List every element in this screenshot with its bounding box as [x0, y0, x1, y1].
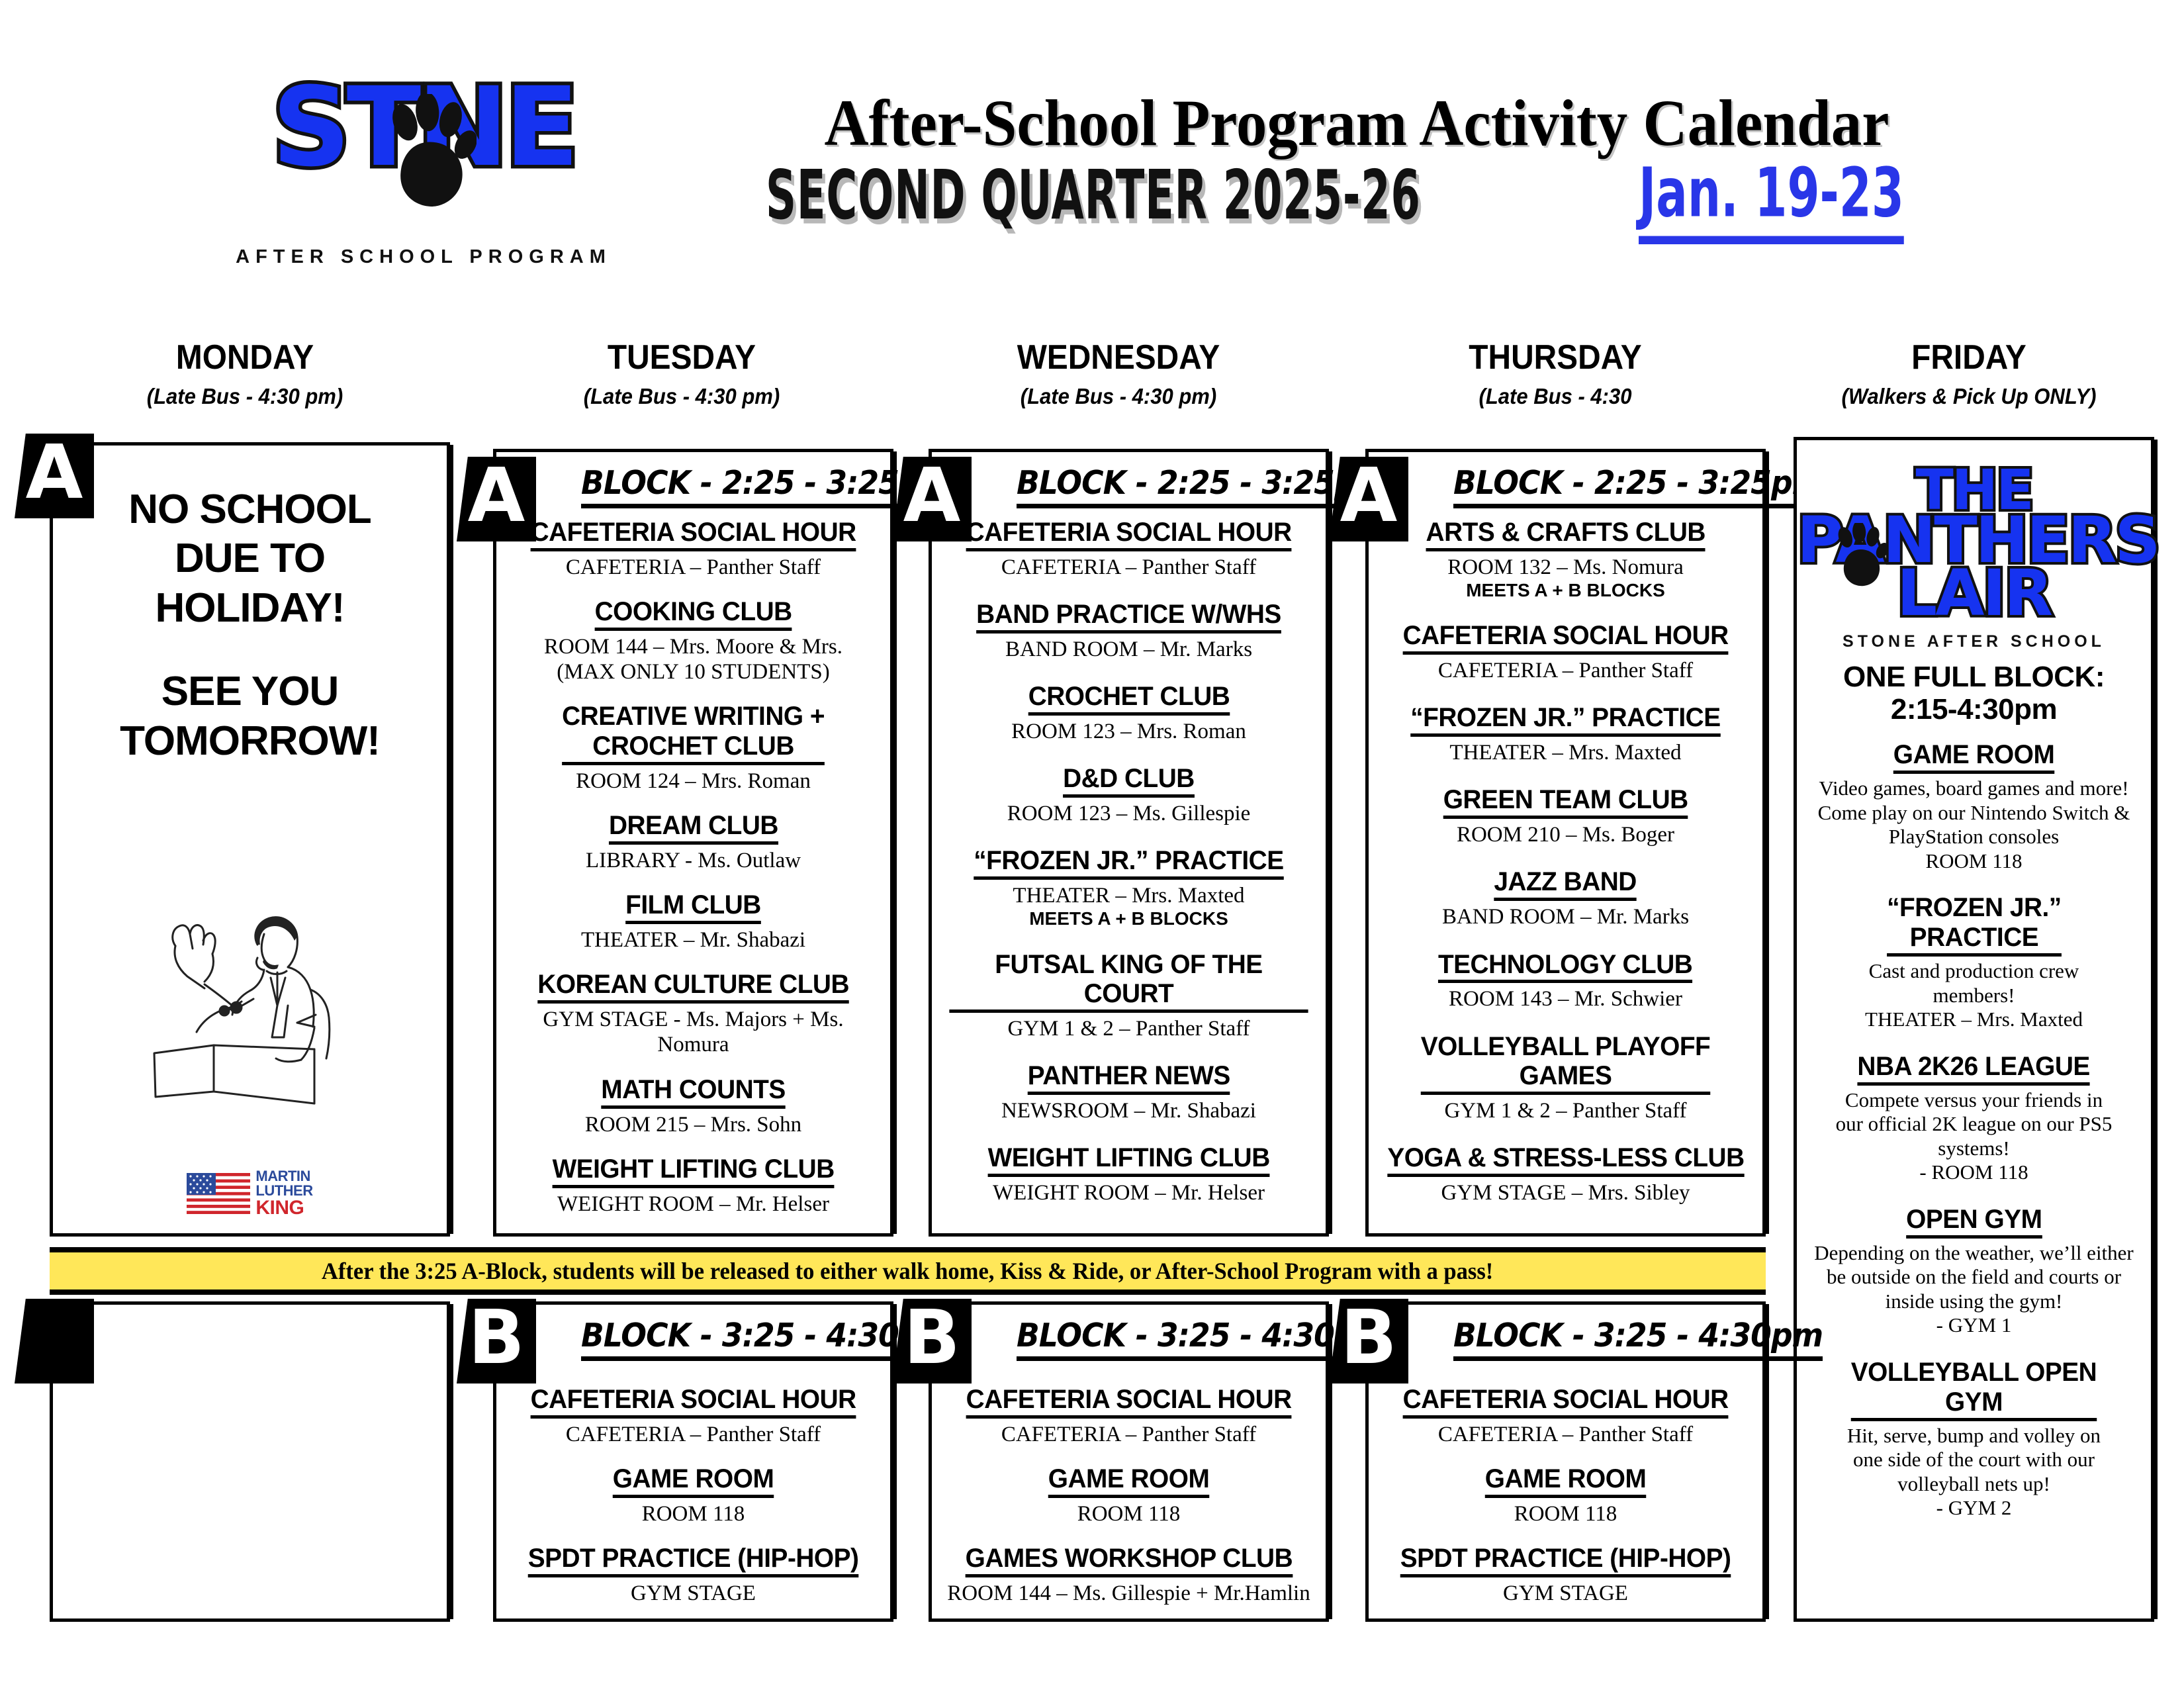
activity-name: JAZZ BAND — [1494, 867, 1637, 901]
activity-location: ROOM 118 — [508, 1501, 878, 1526]
activity-name: “FROZEN JR.” PRACTICE — [974, 846, 1283, 880]
activity-description: Hit, serve, bump and volley on one side … — [1809, 1424, 2139, 1521]
activity-location: BAND ROOM – Mr. Marks — [1381, 904, 1751, 929]
day-name: TUESDAY — [493, 338, 870, 377]
activity-item: SPDT PRACTICE (HIP-HOP)GYM STAGE — [1381, 1544, 1751, 1606]
activity-location: THEATER – Mr. Shabazi — [508, 927, 878, 953]
activity-location: ROOM 123 – Mrs. Roman — [944, 719, 1314, 744]
activity-name: CAFETERIA SOCIAL HOUR — [530, 518, 856, 551]
block-title-b: BLOCK - 3:25 - 4:30pm — [581, 1317, 950, 1361]
activity-name: GAMES WORKSHOP CLUB — [965, 1544, 1292, 1577]
activity-location: GYM 1 & 2 – Panther Staff — [1381, 1098, 1751, 1123]
activity-item: YOGA & STRESS-LESS CLUBGYM STAGE – Mrs. … — [1381, 1143, 1751, 1205]
mlk-illustration-block: MARTIN LUTHER KING — [141, 885, 359, 1219]
activity-name: CREATIVE WRITING + CROCHET CLUB — [562, 702, 825, 765]
day-subnote: (Late Bus - 4:30 pm) — [926, 384, 1312, 409]
activity-name: “FROZEN JR.” PRACTICE — [1410, 703, 1720, 737]
activity-item: TECHNOLOGY CLUBROOM 143 – Mr. Schwier — [1381, 950, 1751, 1012]
mlk-wordmark: MARTIN LUTHER KING — [255, 1169, 312, 1219]
activity-location: GYM STAGE — [1381, 1581, 1751, 1606]
activity-item: CAFETERIA SOCIAL HOURCAFETERIA – Panther… — [508, 1385, 878, 1447]
activity-item: GAME ROOMROOM 118 — [508, 1464, 878, 1526]
block-title-row: BLOCK - 2:25 - 3:25pm — [496, 452, 890, 508]
day-name: WEDNESDAY — [930, 338, 1307, 377]
block-flag-a-monday: A — [15, 434, 94, 518]
activity-location: ROOM 144 – Mrs. Moore & Mrs. — [508, 634, 878, 659]
activity-location: BAND ROOM – Mr. Marks — [944, 637, 1314, 662]
no-school-l3: HOLIDAY! — [156, 585, 345, 631]
day-header-monday: MONDAY (Late Bus - 4:30 pm) — [40, 338, 450, 409]
activity-item: DREAM CLUBLIBRARY - Ms. Outlaw — [508, 811, 878, 873]
cell-wednesday-b: BLOCK - 3:25 - 4:30pm CAFETERIA SOCIAL H… — [929, 1301, 1329, 1622]
activity-location: WEIGHT ROOM – Mr. Helser — [944, 1180, 1314, 1205]
activity-location: GYM 1 & 2 – Panther Staff — [944, 1016, 1314, 1041]
activity-item: VOLLEYBALL PLAYOFF GAMESGYM 1 & 2 – Pant… — [1381, 1032, 1751, 1124]
activity-item: “FROZEN JR.” PRACTICETHEATER – Mrs. Maxt… — [1381, 703, 1751, 765]
activity-name: CAFETERIA SOCIAL HOUR — [966, 518, 1291, 551]
activity-location: CAFETERIA – Panther Staff — [944, 555, 1314, 580]
day-name: THURSDAY — [1367, 338, 1744, 377]
activity-name: DREAM CLUB — [609, 811, 778, 845]
activity-item: CAFETERIA SOCIAL HOURCAFETERIA – Panther… — [944, 518, 1314, 580]
activity-name: WEIGHT LIFTING CLUB — [552, 1154, 834, 1188]
activity-name: ARTS & CRAFTS CLUB — [1426, 518, 1705, 551]
activity-name: SPDT PRACTICE (HIP-HOP) — [1400, 1544, 1731, 1577]
activity-description: Video games, board games and more! Come … — [1809, 776, 2139, 873]
day-subnote: (Late Bus - 4:30 pm) — [52, 384, 438, 409]
activity-list-wednesday-a: CAFETERIA SOCIAL HOURCAFETERIA – Panther… — [932, 508, 1326, 1212]
activity-location: CAFETERIA – Panther Staff — [1381, 658, 1751, 683]
activity-location: ROOM 132 – Ms. Nomura — [1381, 555, 1751, 580]
activity-item: CAFETERIA SOCIAL HOURCAFETERIA – Panther… — [944, 1385, 1314, 1447]
activity-location: THEATER – Mrs. Maxted — [1381, 740, 1751, 765]
activity-location-extra: (MAX ONLY 10 STUDENTS) — [508, 659, 878, 684]
activity-item: D&D CLUBROOM 123 – Ms. Gillespie — [944, 764, 1314, 826]
mlk-line-1: MARTIN — [255, 1169, 312, 1184]
activity-location: ROOM 124 – Mrs. Roman — [508, 769, 878, 794]
block-flag-b-wednesday: B — [892, 1299, 972, 1383]
activity-name: SPDT PRACTICE (HIP-HOP) — [528, 1544, 859, 1577]
activity-location: ROOM 144 – Ms. Gillespie + Mr.Hamlin — [944, 1581, 1314, 1606]
activity-name: WEIGHT LIFTING CLUB — [987, 1143, 1269, 1177]
cell-thursday-b: BLOCK - 3:25 - 4:30pm CAFETERIA SOCIAL H… — [1365, 1301, 1766, 1622]
activity-item: OPEN GYMDepending on the weather, we’ll … — [1809, 1205, 2139, 1338]
activity-location: GYM STAGE — [508, 1581, 878, 1606]
activity-item: CAFETERIA SOCIAL HOURCAFETERIA – Panther… — [508, 518, 878, 580]
mlk-speaking-illustration — [141, 885, 359, 1163]
block-title-row: BLOCK - 2:25 - 3:25pm — [932, 452, 1326, 508]
activity-note: MEETS A + B BLOCKS — [1381, 580, 1751, 601]
activity-list-friday: GAME ROOMVideo games, board games and mo… — [1797, 726, 2151, 1527]
us-flag-icon — [187, 1173, 250, 1214]
activity-name: FILM CLUB — [625, 890, 761, 924]
page-header: STNE AFTER SCHOOL PROGRAM After-School P… — [0, 0, 2184, 331]
activity-location: GYM STAGE - Ms. Majors + Ms. Nomura — [508, 1007, 878, 1058]
activity-location: NEWSROOM – Mr. Shabazi — [944, 1098, 1314, 1123]
friday-block-label: ONE FULL BLOCK: 2:15-4:30pm — [1797, 661, 2151, 726]
activity-list-thursday-a: ARTS & CRAFTS CLUBROOM 132 – Ms. NomuraM… — [1369, 508, 1762, 1212]
activity-item: “FROZEN JR.” PRACTICETHEATER – Mrs. Maxt… — [944, 846, 1314, 929]
activity-note: MEETS A + B BLOCKS — [944, 908, 1314, 929]
activity-name: GAME ROOM — [1893, 740, 2055, 774]
block-title-b: BLOCK - 3:25 - 4:30pm — [1453, 1317, 1823, 1361]
release-notice-banner: After the 3:25 A-Block, students will be… — [50, 1247, 1766, 1295]
no-school-l1: NO SCHOOL — [128, 487, 371, 532]
activity-item: GAME ROOMVideo games, board games and mo… — [1809, 740, 2139, 873]
mlk-badge: MARTIN LUTHER KING — [141, 1169, 359, 1219]
activity-item: WEIGHT LIFTING CLUBWEIGHT ROOM – Mr. Hel… — [508, 1154, 878, 1217]
day-name: MONDAY — [56, 338, 433, 377]
lair-line-2-wrap: PANTHERS — [1797, 514, 2151, 567]
activity-name: PANTHER NEWS — [1027, 1061, 1230, 1095]
day-header-friday: FRIDAY (Walkers & Pick Up ONLY) — [1780, 338, 2158, 409]
activity-name: TECHNOLOGY CLUB — [1438, 950, 1692, 984]
date-range-label: Jan. 19-23 — [1639, 154, 1904, 244]
cell-thursday-a: BLOCK - 2:25 - 3:25pm ARTS & CRAFTS CLUB… — [1365, 449, 1766, 1237]
activity-name: GAME ROOM — [1485, 1464, 1647, 1498]
cell-tuesday-a: BLOCK - 2:25 - 3:25pm CAFETERIA SOCIAL H… — [493, 449, 893, 1237]
activity-item: KOREAN CULTURE CLUBGYM STAGE - Ms. Major… — [508, 970, 878, 1057]
activity-name: CAFETERIA SOCIAL HOUR — [1402, 1385, 1728, 1419]
activity-item: GAME ROOMROOM 118 — [1381, 1464, 1751, 1526]
activity-item: COOKING CLUBROOM 144 – Mrs. Moore & Mrs.… — [508, 597, 878, 684]
quarter-label: SECOND QUARTER 2025-26 — [766, 156, 1421, 235]
block-title-a: BLOCK - 2:25 - 3:25pm — [581, 464, 950, 508]
activity-item: WEIGHT LIFTING CLUBWEIGHT ROOM – Mr. Hel… — [944, 1143, 1314, 1205]
mlk-line-3: KING — [255, 1198, 312, 1219]
panthers-lair-logo: THE PANTHERS LAIR STONE AFTER SCHOOL ONE… — [1797, 440, 2151, 726]
mlk-line-2: LUTHER — [255, 1184, 312, 1198]
activity-name: CAFETERIA SOCIAL HOUR — [530, 1385, 856, 1419]
activity-item: CREATIVE WRITING + CROCHET CLUBROOM 124 … — [508, 702, 878, 794]
block-flag-b-thursday: B — [1329, 1299, 1408, 1383]
no-school-l4: SEE YOU — [161, 669, 339, 714]
activity-name: OPEN GYM — [1906, 1205, 2042, 1239]
activity-item: CROCHET CLUBROOM 123 – Mrs. Roman — [944, 682, 1314, 744]
lair-subtitle: STONE AFTER SCHOOL — [1797, 632, 2151, 651]
activity-description: Compete versus your friends in our offic… — [1809, 1088, 2139, 1185]
cell-tuesday-b: BLOCK - 3:25 - 4:30pm CAFETERIA SOCIAL H… — [493, 1301, 893, 1622]
activity-item: NBA 2K26 LEAGUECompete versus your frien… — [1809, 1052, 2139, 1185]
activity-item: CAFETERIA SOCIAL HOURCAFETERIA – Panther… — [1381, 621, 1751, 683]
calendar-page: STNE AFTER SCHOOL PROGRAM After-School P… — [0, 0, 2184, 1688]
activity-name: CAFETERIA SOCIAL HOUR — [966, 1385, 1291, 1419]
activity-name: VOLLEYBALL OPEN GYM — [1851, 1358, 2097, 1421]
activity-location: LIBRARY - Ms. Outlaw — [508, 848, 878, 873]
block-title-a: BLOCK - 2:25 - 3:25pm — [1017, 464, 1386, 508]
activity-item: GREEN TEAM CLUBROOM 210 – Ms. Boger — [1381, 785, 1751, 847]
monday-no-school-message: NO SCHOOL DUE TO HOLIDAY! SEE YOU TOMORR… — [53, 445, 447, 766]
block-title-a: BLOCK - 2:25 - 3:25pm — [1453, 464, 1823, 508]
activity-name: NBA 2K26 LEAGUE — [1858, 1052, 2090, 1086]
activity-location: ROOM 210 – Ms. Boger — [1381, 822, 1751, 847]
activity-list-thursday-b: CAFETERIA SOCIAL HOURCAFETERIA – Panther… — [1369, 1361, 1762, 1613]
activity-name: FUTSAL KING OF THE COURT — [949, 950, 1308, 1013]
activity-location: ROOM 123 – Ms. Gillespie — [944, 801, 1314, 826]
activity-list-tuesday-a: CAFETERIA SOCIAL HOURCAFETERIA – Panther… — [496, 508, 890, 1223]
activity-location: WEIGHT ROOM – Mr. Helser — [508, 1192, 878, 1217]
activity-item: FILM CLUBTHEATER – Mr. Shabazi — [508, 890, 878, 953]
activity-item: FUTSAL KING OF THE COURTGYM 1 & 2 – Pant… — [944, 950, 1314, 1042]
block-flag-b-monday — [15, 1299, 94, 1383]
no-school-l5: TOMORROW! — [120, 718, 380, 764]
release-notice-text: After the 3:25 A-Block, students will be… — [322, 1257, 1493, 1285]
activity-name: VOLLEYBALL PLAYOFF GAMES — [1421, 1032, 1711, 1096]
cell-monday-a: NO SCHOOL DUE TO HOLIDAY! SEE YOU TOMORR… — [50, 442, 450, 1237]
title-quarter-row: SECOND QUARTER 2025-26 Jan. 19-23 — [662, 172, 2052, 244]
stone-after-school-logo: STNE AFTER SCHOOL PROGRAM — [199, 73, 649, 291]
activity-item: PANTHER NEWSNEWSROOM – Mr. Shabazi — [944, 1061, 1314, 1123]
activity-name: GAME ROOM — [613, 1464, 774, 1498]
day-header-tuesday: TUESDAY (Late Bus - 4:30 pm) — [477, 338, 887, 409]
cell-monday-b — [50, 1301, 450, 1622]
day-subnote: (Late Bus - 4:30 pm) — [489, 384, 875, 409]
cell-friday-full: THE PANTHERS LAIR STONE AFTER SCHOOL ONE… — [1794, 437, 2154, 1622]
activity-item: MATH COUNTSROOM 215 – Mrs. Sohn — [508, 1075, 878, 1137]
day-subnote: (Walkers & Pick Up ONLY) — [1792, 384, 2146, 409]
activity-item: JAZZ BANDBAND ROOM – Mr. Marks — [1381, 867, 1751, 929]
activity-item: GAME ROOMROOM 118 — [944, 1464, 1314, 1526]
block-flag-a-wednesday: A — [892, 457, 972, 541]
paw-print-icon — [1834, 523, 1892, 589]
activity-list-tuesday-b: CAFETERIA SOCIAL HOURCAFETERIA – Panther… — [496, 1361, 890, 1613]
block-title-row: BLOCK - 3:25 - 4:30pm — [496, 1305, 890, 1361]
activity-name: BAND PRACTICE W/WHS — [976, 600, 1281, 633]
logo-subtitle: AFTER SCHOOL PROGRAM — [199, 246, 649, 268]
activity-name: CROCHET CLUB — [1028, 682, 1230, 716]
block-title-row: BLOCK - 3:25 - 4:30pm — [932, 1305, 1326, 1361]
activity-name: MATH COUNTS — [601, 1075, 785, 1109]
activity-location: ROOM 215 – Mrs. Sohn — [508, 1112, 878, 1137]
activity-name: YOGA & STRESS-LESS CLUB — [1387, 1143, 1744, 1177]
activity-location: CAFETERIA – Panther Staff — [508, 555, 878, 580]
cell-wednesday-a: BLOCK - 2:25 - 3:25pm CAFETERIA SOCIAL H… — [929, 449, 1329, 1237]
activity-description: Depending on the weather, we’ll either b… — [1809, 1241, 2139, 1338]
activity-location: ROOM 118 — [1381, 1501, 1751, 1526]
day-header-thursday: THURSDAY (Late Bus - 4:30 — [1350, 338, 1760, 409]
block-flag-a-tuesday: A — [457, 457, 536, 541]
activity-location: THEATER – Mrs. Maxted — [944, 883, 1314, 908]
activity-item: BAND PRACTICE W/WHSBAND ROOM – Mr. Marks — [944, 600, 1314, 662]
activity-location: CAFETERIA – Panther Staff — [944, 1422, 1314, 1447]
activity-name: D&D CLUB — [1063, 764, 1195, 798]
activity-list-wednesday-b: CAFETERIA SOCIAL HOURCAFETERIA – Panther… — [932, 1361, 1326, 1613]
activity-name: CAFETERIA SOCIAL HOUR — [1402, 621, 1728, 655]
activity-name: GAME ROOM — [1048, 1464, 1210, 1498]
block-flag-a-thursday: A — [1329, 457, 1408, 541]
page-title: After-School Program Activity Calendar — [711, 85, 2003, 161]
activity-item: ARTS & CRAFTS CLUBROOM 132 – Ms. NomuraM… — [1381, 518, 1751, 601]
block-title-b: BLOCK - 3:25 - 4:30pm — [1017, 1317, 1386, 1361]
activity-item: “FROZEN JR.” PRACTICECast and production… — [1809, 893, 2139, 1031]
block-title-row: BLOCK - 3:25 - 4:30pm — [1369, 1305, 1762, 1361]
activity-list-monday-b — [53, 1305, 447, 1321]
activity-description: Cast and production crew members! THEATE… — [1809, 959, 2139, 1032]
day-name: FRIDAY — [1796, 338, 2142, 377]
activity-name: GREEN TEAM CLUB — [1443, 785, 1688, 819]
activity-item: GAMES WORKSHOP CLUBROOM 144 – Ms. Gilles… — [944, 1544, 1314, 1606]
block-flag-b-tuesday: B — [457, 1299, 536, 1383]
day-header-row: MONDAY (Late Bus - 4:30 pm) TUESDAY (Lat… — [0, 338, 2184, 417]
activity-name: “FROZEN JR.” PRACTICE — [1887, 893, 2062, 957]
activity-name: KOREAN CULTURE CLUB — [537, 970, 849, 1004]
activity-location: GYM STAGE – Mrs. Sibley — [1381, 1180, 1751, 1205]
activity-location: ROOM 143 – Mr. Schwier — [1381, 986, 1751, 1011]
day-header-wednesday: WEDNESDAY (Late Bus - 4:30 pm) — [913, 338, 1324, 409]
block-title-row: BLOCK - 2:25 - 3:25pm — [1369, 452, 1762, 508]
activity-location: CAFETERIA – Panther Staff — [508, 1422, 878, 1447]
activity-item: SPDT PRACTICE (HIP-HOP)GYM STAGE — [508, 1544, 878, 1606]
day-subnote: (Late Bus - 4:30 — [1363, 384, 1749, 409]
activity-location: CAFETERIA – Panther Staff — [1381, 1422, 1751, 1447]
paw-print-icon — [387, 94, 477, 213]
no-school-l2: DUE TO — [175, 536, 325, 581]
activity-item: VOLLEYBALL OPEN GYMHit, serve, bump and … — [1809, 1358, 2139, 1521]
activity-location: ROOM 118 — [944, 1501, 1314, 1526]
activity-name: COOKING CLUB — [594, 597, 792, 631]
activity-item: CAFETERIA SOCIAL HOURCAFETERIA – Panther… — [1381, 1385, 1751, 1447]
